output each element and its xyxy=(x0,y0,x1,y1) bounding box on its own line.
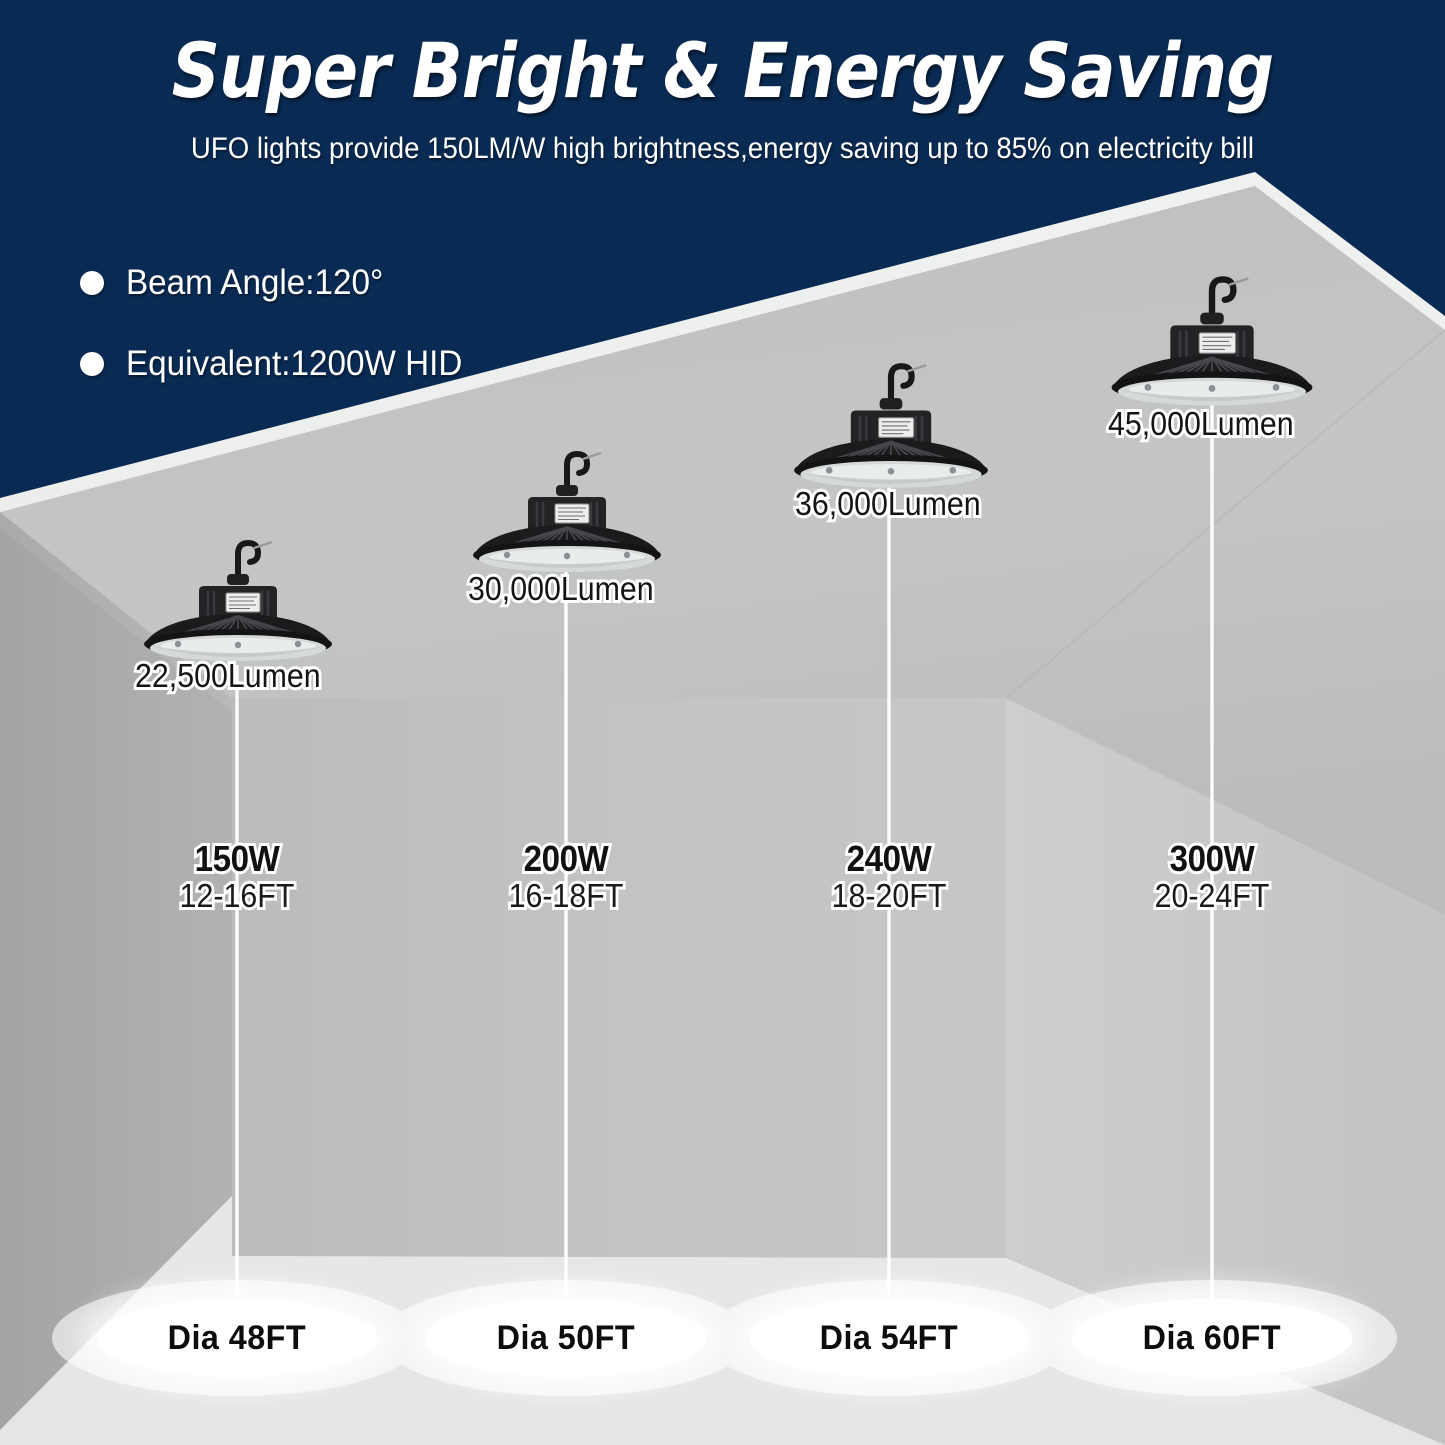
spec-label xyxy=(879,418,914,438)
hook-mount xyxy=(880,398,903,409)
ufo-high-bay-light-2 xyxy=(455,447,679,579)
hook-mount xyxy=(556,485,578,496)
lumen-label-3: 36,000Lumen xyxy=(795,485,981,523)
hook-mount xyxy=(1200,313,1224,325)
spec-block-1: 150W 12-16FT xyxy=(137,838,337,915)
feature-bullet-label: Beam Angle:120° xyxy=(126,263,383,303)
hanging-hook-icon xyxy=(1212,278,1248,314)
mounting-height-label: 20-24FT xyxy=(1120,877,1304,915)
coverage-ellipse-3: Dia 54FT xyxy=(749,1299,1029,1377)
page-subtitle: UFO lights provide 150LM/W high brightne… xyxy=(58,132,1387,166)
hanging-hook-icon xyxy=(567,453,601,487)
coverage-diameter-label: Dia 54FT xyxy=(820,1319,958,1358)
wattage-label: 150W xyxy=(145,838,329,880)
bullet-dot-icon xyxy=(80,271,104,295)
room-scene xyxy=(0,0,1445,1445)
ufo-high-bay-light-4 xyxy=(1092,272,1332,413)
feature-bullet-label: Equivalent:1200W HID xyxy=(126,344,462,384)
coverage-ellipse-2: Dia 50FT xyxy=(426,1299,706,1377)
infographic-canvas: Super Bright & Energy Saving UFO lights … xyxy=(0,0,1445,1445)
coverage-diameter-label: Dia 50FT xyxy=(497,1319,635,1358)
feature-bullet-equivalent: Equivalent:1200W HID xyxy=(80,344,480,384)
hook-mount xyxy=(227,574,249,585)
lumen-label-1: 22,500Lumen xyxy=(135,657,321,695)
ufo-high-bay-light-1 xyxy=(126,536,350,668)
feature-bullet-beam-angle: Beam Angle:120° xyxy=(80,263,397,303)
hanging-hook-icon xyxy=(891,365,926,400)
mounting-height-label: 16-18FT xyxy=(474,877,658,915)
spec-block-3: 240W 18-20FT xyxy=(789,838,989,915)
spec-label xyxy=(1199,333,1235,353)
ufo-high-bay-light-3 xyxy=(775,359,1007,495)
wattage-label: 200W xyxy=(474,838,658,880)
bullet-dot-icon xyxy=(80,352,104,376)
spec-block-4: 300W 20-24FT xyxy=(1112,838,1312,915)
lumen-label-2: 30,000Lumen xyxy=(468,570,654,608)
wattage-label: 240W xyxy=(797,838,981,880)
hanging-hook-icon xyxy=(238,542,272,576)
wattage-label: 300W xyxy=(1120,838,1304,880)
coverage-diameter-label: Dia 48FT xyxy=(168,1319,306,1358)
coverage-diameter-label: Dia 60FT xyxy=(1143,1319,1281,1358)
coverage-ellipse-4: Dia 60FT xyxy=(1072,1299,1352,1377)
coverage-ellipse-1: Dia 48FT xyxy=(97,1299,377,1377)
mounting-height-label: 18-20FT xyxy=(797,877,981,915)
lumen-label-4: 45,000Lumen xyxy=(1108,405,1294,443)
spec-label xyxy=(226,593,260,612)
spec-block-2: 200W 16-18FT xyxy=(466,838,666,915)
page-title: Super Bright & Energy Saving xyxy=(87,26,1359,115)
spec-label xyxy=(555,504,589,523)
mounting-height-label: 12-16FT xyxy=(145,877,329,915)
